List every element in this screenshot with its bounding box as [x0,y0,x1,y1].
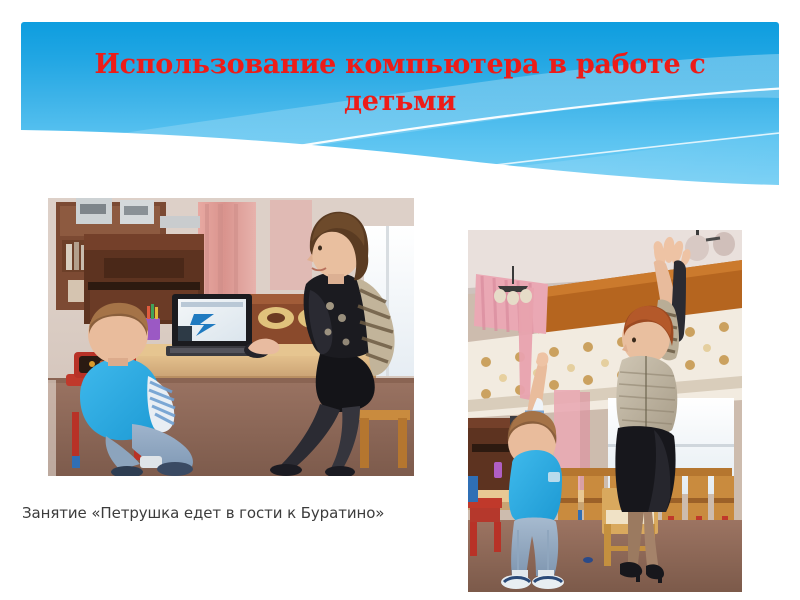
flow-wave-graphic [21,22,779,185]
photo-caption: Занятие «Петрушка едет в гости к Буратин… [22,503,452,523]
photo-lesson-computer [48,198,414,476]
photo-physical-exercise [468,230,742,592]
presentation-slide: Использование компьютера в работе с деть… [0,0,800,600]
photo-lesson-computer-graphic [48,198,414,476]
header-banner [21,22,779,185]
photo-physical-exercise-graphic [468,230,742,592]
